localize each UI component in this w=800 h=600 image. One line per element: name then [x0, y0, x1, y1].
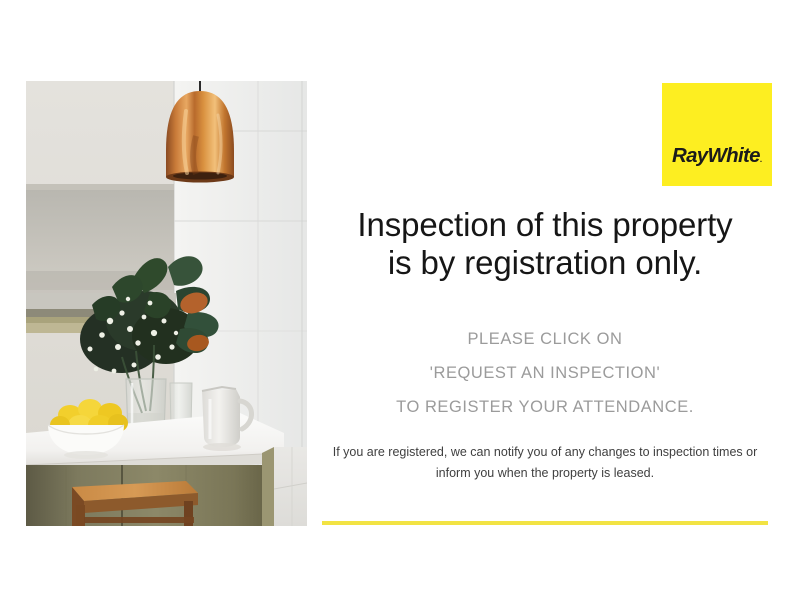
kitchen-interior-photo [26, 81, 307, 526]
registration-note: If you are registered, we can notify you… [322, 442, 768, 484]
note-line-2: inform you when the property is leased. [322, 463, 768, 484]
kitchen-photo-illustration [26, 81, 307, 526]
page-title: Inspection of this property is by regist… [322, 206, 768, 282]
headline-line-2: is by registration only. [322, 244, 768, 282]
wooden-stool [72, 481, 198, 526]
instruction-subheading: PLEASE CLICK ON 'REQUEST AN INSPECTION' … [322, 322, 768, 424]
raywhite-logo-wordmark: RayWhite [672, 144, 760, 167]
subhead-line-3: TO REGISTER YOUR ATTENDANCE. [322, 390, 768, 424]
subhead-line-1: PLEASE CLICK ON [322, 322, 768, 356]
note-line-1: If you are registered, we can notify you… [322, 442, 768, 463]
registered-mark: . [760, 155, 762, 164]
subhead-line-2: 'REQUEST AN INSPECTION' [322, 356, 768, 390]
headline-line-1: Inspection of this property [322, 206, 768, 244]
accent-divider [322, 521, 768, 525]
inspection-registration-slide: RayWhite. Inspection of this property is… [0, 0, 800, 600]
raywhite-logo: RayWhite. [662, 83, 772, 186]
raywhite-logo-text: RayWhite. [672, 144, 762, 168]
